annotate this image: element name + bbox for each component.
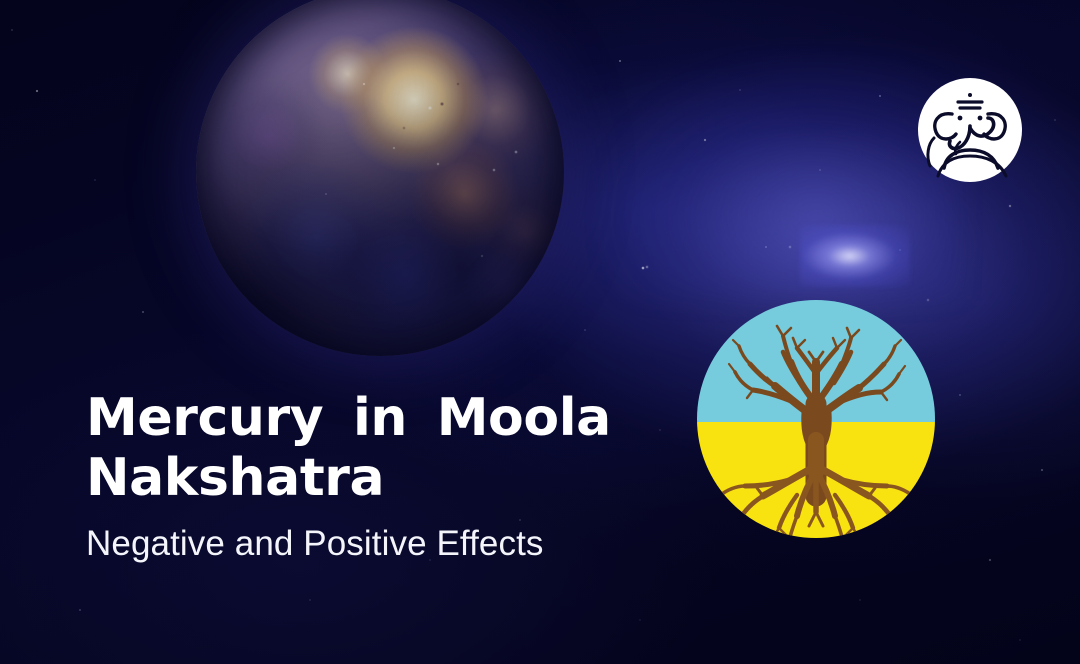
nebula-glow — [800, 225, 910, 287]
title-line-1: Mercury in Moola — [86, 388, 611, 448]
page-subtitle: Negative and Positive Effects — [86, 525, 686, 564]
mercury-planet — [196, 0, 564, 356]
title-line-2: Nakshatra — [86, 448, 384, 508]
ganesha-logo[interactable] — [916, 76, 1024, 184]
headline-block: Mercury in MoolaNakshatra Negative and P… — [86, 388, 686, 563]
page-title: Mercury in MoolaNakshatra — [86, 388, 686, 509]
banner: Mercury in MoolaNakshatra Negative and P… — [0, 0, 1080, 664]
tree-of-life-emblem — [697, 300, 935, 538]
planet-limb-darkening — [196, 0, 564, 356]
